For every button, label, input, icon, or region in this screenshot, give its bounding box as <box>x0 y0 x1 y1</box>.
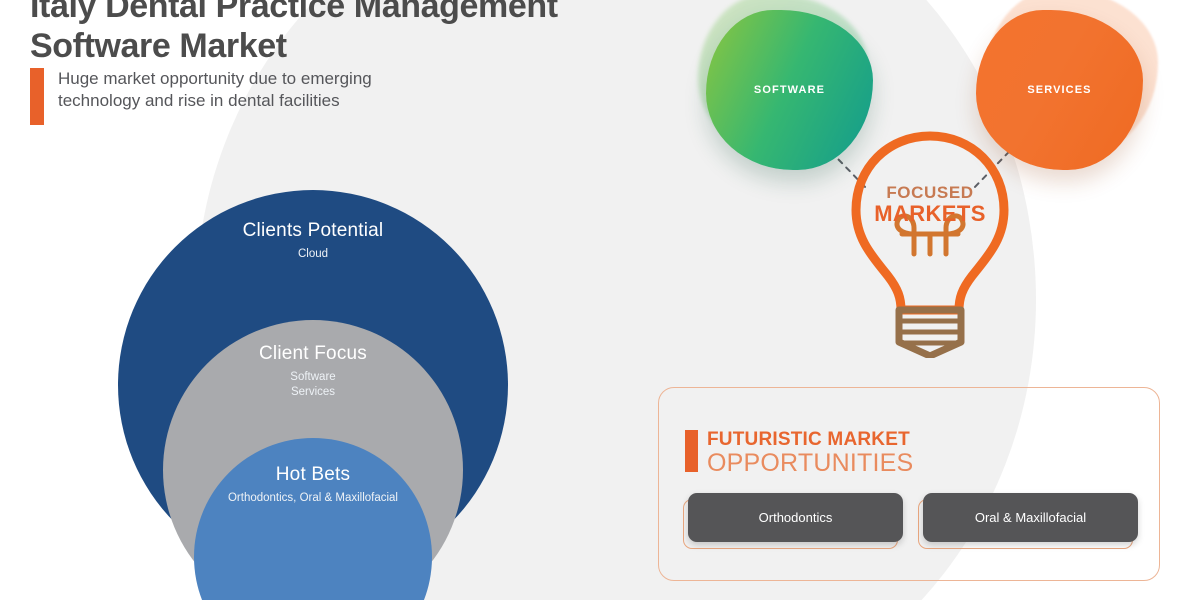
circle-inner-title: Hot Bets <box>276 464 350 486</box>
opportunity-card-orthodontics[interactable]: Orthodontics <box>688 493 903 542</box>
opportunity-label: Orthodontics <box>759 510 833 525</box>
lightbulb-line-2: MARKETS <box>840 203 1020 225</box>
panel-heading-line-1: FUTURISTIC MARKET <box>707 430 913 449</box>
title-line-1: Italy Dental Practice Management <box>30 0 710 26</box>
blob-services-label: SERVICES <box>976 84 1143 96</box>
circle-mid-subtitle-2: Services <box>291 385 335 400</box>
subtitle-block: Huge market opportunity due to emerging … <box>30 68 388 125</box>
circle-outer-title: Clients Potential <box>243 220 384 242</box>
subtitle-text: Huge market opportunity due to emerging … <box>58 68 388 112</box>
lightbulb-text: FOCUSED MARKETS <box>840 184 1020 225</box>
opportunity-item[interactable]: Oral & Maxillofacial <box>918 493 1137 551</box>
lightbulb-graphic: FOCUSED MARKETS <box>840 128 1020 363</box>
panel-accent-bar <box>685 430 698 472</box>
blob-software-label: SOFTWARE <box>706 84 873 96</box>
accent-bar <box>30 68 44 125</box>
panel-heading: FUTURISTIC MARKET OPPORTUNITIES <box>685 430 913 476</box>
panel-heading-line-2: OPPORTUNITIES <box>707 450 913 476</box>
opportunity-item[interactable]: Orthodontics <box>683 493 902 551</box>
opportunity-list: Orthodontics Oral & Maxillofacial <box>683 493 1137 551</box>
circle-inner-subtitle: Orthodontics, Oral & Maxillofacial <box>228 491 398 506</box>
page-title: Italy Dental Practice Management Softwar… <box>30 0 710 66</box>
opportunity-card-oral-maxillofacial[interactable]: Oral & Maxillofacial <box>923 493 1138 542</box>
opportunity-label: Oral & Maxillofacial <box>975 510 1086 525</box>
lightbulb-icon <box>840 128 1020 358</box>
circle-outer-subtitle: Cloud <box>298 247 328 262</box>
circle-mid-title: Client Focus <box>259 343 367 365</box>
circle-mid-subtitle-1: Software <box>290 370 335 385</box>
infographic-canvas: Italy Dental Practice Management Softwar… <box>0 0 1200 600</box>
title-line-2: Software Market <box>30 26 710 66</box>
futuristic-opportunities-panel: FUTURISTIC MARKET OPPORTUNITIES Orthodon… <box>658 387 1160 581</box>
lightbulb-line-1: FOCUSED <box>840 184 1020 201</box>
